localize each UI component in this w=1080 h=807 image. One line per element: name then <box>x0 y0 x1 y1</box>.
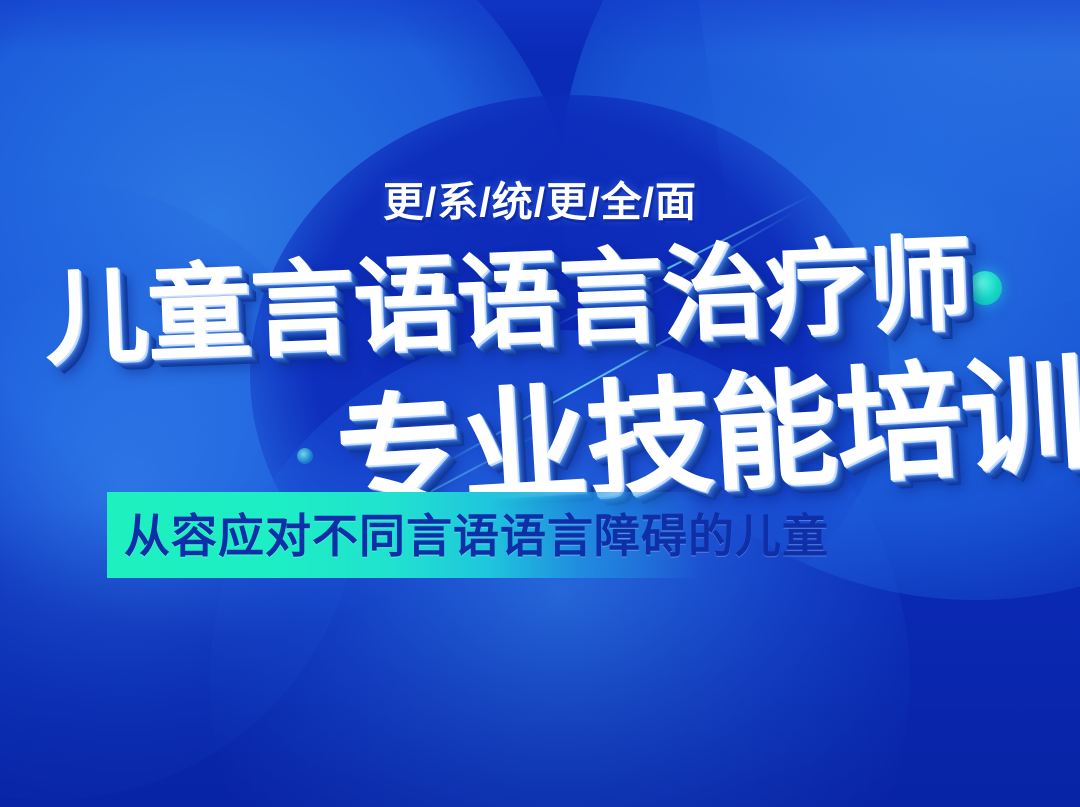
promo-banner: 更/系/统/更/全/面 儿童言语语言治疗师 专业技能培训 从容应对不同言语语言障… <box>0 0 1080 807</box>
headline-group: 儿童言语语言治疗师 专业技能培训 <box>0 0 1080 807</box>
subtitle: 从容应对不同言语语言障碍的儿童 <box>124 500 829 572</box>
poster-content: 更/系/统/更/全/面 儿童言语语言治疗师 专业技能培训 从容应对不同言语语言障… <box>0 0 1080 807</box>
